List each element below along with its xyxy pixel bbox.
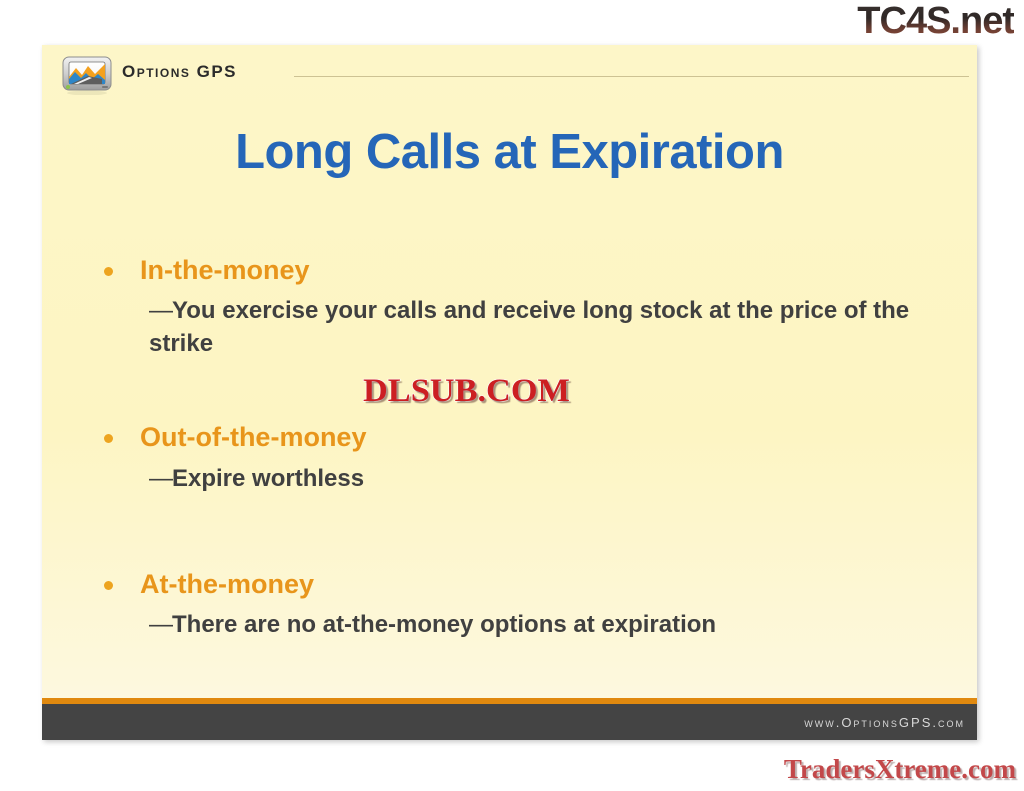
bullet-group-in-the-money: In-the-money —You exercise your calls an… [42, 255, 977, 360]
slide-body: In-the-money —You exercise your calls an… [42, 255, 977, 641]
bullet-sub-item: —Expire worthless [42, 462, 977, 495]
gps-device-icon [62, 55, 114, 95]
bullet-heading-label: At-the-money [140, 569, 314, 599]
bullet-dot-icon [104, 267, 113, 276]
footer-url: www.OptionsGPS.com [804, 715, 965, 730]
brand-label: Options GPS [122, 62, 237, 82]
bullet-heading: Out-of-the-money [42, 422, 977, 452]
bullet-sub-label: You exercise your calls and receive long… [149, 297, 909, 357]
em-dash-icon: — [149, 297, 172, 324]
em-dash-icon: — [149, 465, 172, 492]
bullet-heading-label: In-the-money [140, 255, 310, 285]
bullet-heading: At-the-money [42, 569, 977, 599]
bullet-sub-item: —You exercise your calls and receive lon… [42, 294, 977, 360]
bullet-heading-label: Out-of-the-money [140, 422, 366, 452]
slide-header: Options GPS [42, 45, 977, 103]
bullet-dot-icon [104, 581, 113, 590]
bullet-sub-label: There are no at-the-money options at exp… [172, 611, 716, 638]
bullet-group-at-the-money: At-the-money —There are no at-the-money … [42, 569, 977, 641]
bullet-dot-icon [104, 434, 113, 443]
bullet-heading: In-the-money [42, 255, 977, 285]
tc4s-logo: TC4S.net [857, 2, 1014, 40]
page-title: Long Calls at Expiration [42, 128, 977, 177]
em-dash-icon: — [149, 611, 172, 638]
bullet-group-out-of-the-money: Out-of-the-money —Expire worthless [42, 422, 977, 494]
dlsub-watermark: DLSUB.COM [363, 373, 570, 410]
bullet-sub-item: —There are no at-the-money options at ex… [42, 608, 977, 641]
bullet-sub-label: Expire worthless [172, 465, 364, 492]
presentation-slide: Options GPS Long Calls at Expiration In-… [42, 45, 977, 740]
tradersxtreme-watermark: TradersXtreme.com [784, 754, 1016, 785]
slide-footer: www.OptionsGPS.com [42, 704, 977, 740]
header-divider [294, 76, 969, 77]
